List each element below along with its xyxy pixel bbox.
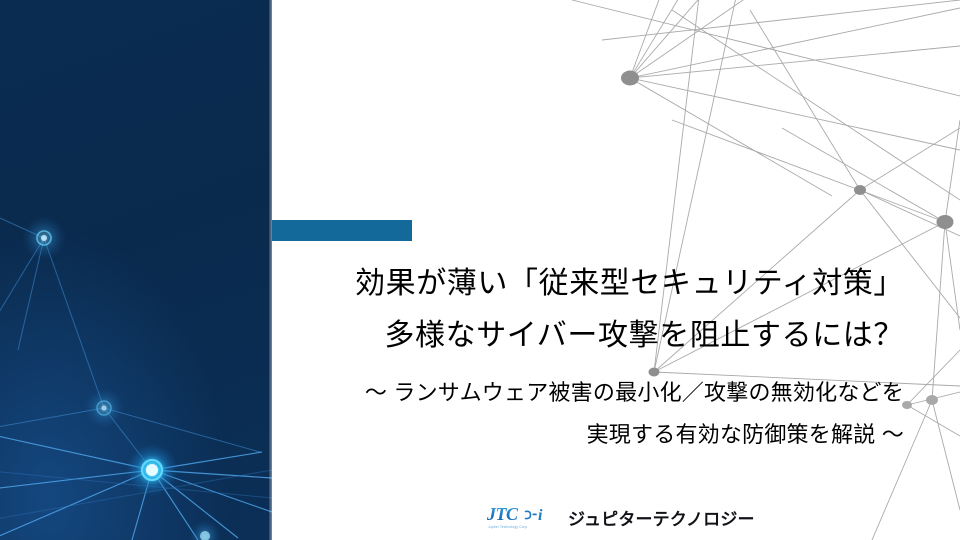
subtitle-line-2: 実現する有効な防御策を解説 〜	[272, 414, 904, 456]
subtitle-line-1: 〜 ランサムウェア被害の最小化／攻撃の無効化などを	[272, 372, 904, 414]
title-line-1: 効果が薄い「従来型セキュリティ対策」	[272, 258, 904, 310]
page-subtitle: 〜 ランサムウェア被害の最小化／攻撃の無効化などを 実現する有効な防御策を解説 …	[272, 372, 904, 456]
title-slide: 効果が薄い「従来型セキュリティ対策」 多様なサイバー攻撃を阻止するには？ 〜 ラ…	[0, 0, 960, 540]
svg-text:JTC: JTC	[487, 504, 519, 524]
accent-bar	[272, 220, 412, 241]
svg-text:i: i	[538, 507, 543, 524]
page-title: 効果が薄い「従来型セキュリティ対策」 多様なサイバー攻撃を阻止するには？	[272, 258, 904, 362]
company-logo: JTC i Jupiter Technology Corp. ジュピターテクノロ…	[487, 502, 755, 532]
title-line-2: 多様なサイバー攻撃を阻止するには？	[272, 310, 904, 362]
left-network-panel	[0, 0, 272, 540]
jtci-logo-icon: JTC i Jupiter Technology Corp.	[487, 503, 559, 531]
svg-text:Jupiter Technology Corp.: Jupiter Technology Corp.	[488, 525, 528, 529]
company-name: ジュピターテクノロジー	[568, 505, 755, 530]
glowing-network-icon	[0, 0, 272, 540]
